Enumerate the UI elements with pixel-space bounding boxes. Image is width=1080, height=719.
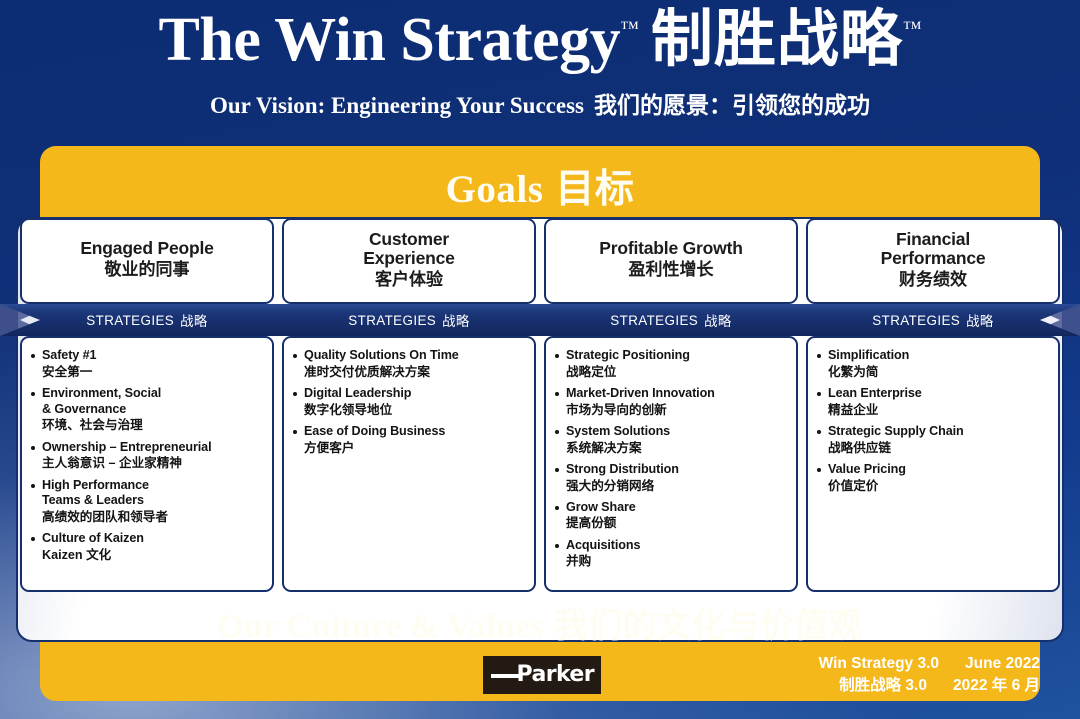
trademark-symbol: ™ <box>620 18 639 39</box>
parker-logo-text: Parker <box>517 662 594 688</box>
strategies-label-chinese: 战略 <box>180 310 208 330</box>
strategies-card-1: Safety #1安全第一 Environment, Social& Gover… <box>20 336 274 592</box>
strategy-english: Ease of Doing Business <box>304 424 526 440</box>
strategy-chinese: 化繁为简 <box>828 364 1050 380</box>
goal-column-customer-experience: CustomerExperience 客户体验 STRATEGIES战略 Qua… <box>282 218 536 592</box>
culture-chinese: 我们的文化与价值观 <box>554 608 863 645</box>
strategy-chinese: 精益企业 <box>828 402 1050 418</box>
strategy-list-3: Strategic Positioning战略定位 Market-Driven … <box>552 348 788 570</box>
title-chinese: 制胜战略 <box>651 6 903 74</box>
strategies-label-english: STRATEGIES <box>872 313 960 328</box>
goal-header-engaged-people[interactable]: Engaged People 敬业的同事 <box>20 218 274 304</box>
list-item: Quality Solutions On Time准时交付优质解决方案 <box>290 348 526 380</box>
trademark-symbol-chinese: ™ <box>903 18 922 39</box>
poster-footer: Parker Win Strategy 3.0June 2022 制胜战略 3.… <box>40 650 1040 700</box>
strategy-chinese: 高绩效的团队和领导者 <box>42 509 264 525</box>
strategy-english: Grow Share <box>566 500 788 516</box>
version-label-chinese: 制胜战略 3.0 <box>839 677 927 694</box>
version-info: Win Strategy 3.0June 2022 制胜战略 3.02022 年… <box>819 653 1040 697</box>
strategy-list-4: Simplification化繁为简 Lean Enterprise精益企业 S… <box>814 348 1050 494</box>
list-item: Digital Leadership数字化领导地位 <box>290 386 526 418</box>
goal-title-chinese: 敬业的同事 <box>105 260 190 280</box>
goal-title-english: CustomerExperience <box>363 230 454 270</box>
list-item: Strategic Positioning战略定位 <box>552 348 788 380</box>
win-strategy-poster: The Win Strategy™制胜战略™ Our Vision: Engin… <box>0 0 1080 719</box>
strategies-label-chinese: 战略 <box>704 310 732 330</box>
list-item: Value Pricing价值定价 <box>814 462 1050 494</box>
list-item: Strong Distribution强大的分销网络 <box>552 462 788 494</box>
strategies-label-chinese: 战略 <box>966 310 994 330</box>
version-row-chinese: 制胜战略 3.02022 年 6 月 <box>819 675 1040 697</box>
strategy-english: Digital Leadership <box>304 386 526 402</box>
strategies-label-3: STRATEGIES战略 <box>544 304 798 336</box>
list-item: Simplification化繁为简 <box>814 348 1050 380</box>
list-item: Culture of KaizenKaizen 文化 <box>28 531 264 563</box>
page-title: The Win Strategy™制胜战略™ <box>0 8 1080 73</box>
strategy-chinese: 价值定价 <box>828 478 1050 494</box>
strategy-chinese: 战略供应链 <box>828 440 1050 456</box>
goals-heading-english: Goals <box>446 168 544 211</box>
strategy-chinese: Kaizen 文化 <box>42 547 264 563</box>
list-item: Lean Enterprise精益企业 <box>814 386 1050 418</box>
strategies-card-3: Strategic Positioning战略定位 Market-Driven … <box>544 336 798 592</box>
strategies-label-english: STRATEGIES <box>86 313 174 328</box>
goals-heading: Goals目标 <box>0 158 1080 214</box>
goal-header-profitable-growth[interactable]: Profitable Growth 盈利性增长 <box>544 218 798 304</box>
goal-column-financial-performance: FinancialPerformance 财务绩效 STRATEGIES战略 S… <box>806 218 1060 592</box>
strategy-english: Culture of Kaizen <box>42 531 264 547</box>
goals-heading-chinese: 目标 <box>555 168 634 211</box>
strategy-list-1: Safety #1安全第一 Environment, Social& Gover… <box>28 348 264 563</box>
strategy-english: Environment, Social& Governance <box>42 386 264 417</box>
parker-dash-icon <box>491 674 519 678</box>
list-item: Grow Share提高份额 <box>552 500 788 532</box>
goal-title-english: FinancialPerformance <box>881 230 986 270</box>
title-english: The Win Strategy <box>159 6 621 74</box>
goal-header-customer-experience[interactable]: CustomerExperience 客户体验 <box>282 218 536 304</box>
goal-title-chinese: 财务绩效 <box>899 270 967 290</box>
list-item: Ease of Doing Business方便客户 <box>290 424 526 456</box>
vision-english: Our Vision: Engineering Your Success <box>210 93 584 118</box>
goal-columns: Engaged People 敬业的同事 STRATEGIES战略 Safety… <box>20 218 1060 592</box>
parker-wordmark: Parker <box>490 662 594 688</box>
strategy-english: Quality Solutions On Time <box>304 348 526 364</box>
strategy-english: Value Pricing <box>828 462 1050 478</box>
strategy-english: Strategic Supply Chain <box>828 424 1050 440</box>
list-item: Environment, Social& Governance环境、社会与治理 <box>28 386 264 434</box>
strategy-chinese: 准时交付优质解决方案 <box>304 364 526 380</box>
strategy-chinese: 系统解决方案 <box>566 440 788 456</box>
date-english: June 2022 <box>965 655 1040 672</box>
strategy-chinese: 数字化领导地位 <box>304 402 526 418</box>
goal-title-english: Engaged People <box>80 239 213 259</box>
strategy-chinese: 并购 <box>566 553 788 569</box>
goal-title-english: Profitable Growth <box>599 239 742 259</box>
vision-statement: Our Vision: Engineering Your Success我们的愿… <box>0 86 1080 120</box>
strategies-label-4: STRATEGIES战略 <box>806 304 1060 336</box>
goal-header-financial-performance[interactable]: FinancialPerformance 财务绩效 <box>806 218 1060 304</box>
strategy-english: High PerformanceTeams & Leaders <box>42 478 264 509</box>
goal-title-chinese: 盈利性增长 <box>629 260 714 280</box>
version-label-english: Win Strategy 3.0 <box>819 655 939 672</box>
strategy-chinese: 主人翁意识 – 企业家精神 <box>42 455 264 471</box>
strategy-english: Safety #1 <box>42 348 264 364</box>
strategies-card-2: Quality Solutions On Time准时交付优质解决方案 Digi… <box>282 336 536 592</box>
culture-english: Our Culture & Values <box>217 608 544 645</box>
strategy-english: Simplification <box>828 348 1050 364</box>
strategy-english: Strong Distribution <box>566 462 788 478</box>
strategies-label-english: STRATEGIES <box>348 313 436 328</box>
list-item: High PerformanceTeams & Leaders高绩效的团队和领导… <box>28 478 264 526</box>
goal-title-chinese: 客户体验 <box>375 270 443 290</box>
strategies-card-4: Simplification化繁为简 Lean Enterprise精益企业 S… <box>806 336 1060 592</box>
strategy-chinese: 提高份额 <box>566 515 788 531</box>
culture-values-heading: Our Culture & Values我们的文化与价值观 <box>0 598 1080 647</box>
strategy-chinese: 安全第一 <box>42 364 264 380</box>
strategy-chinese: 市场为导向的创新 <box>566 402 788 418</box>
poster-header: The Win Strategy™制胜战略™ Our Vision: Engin… <box>0 8 1080 120</box>
parker-logo: Parker <box>483 656 601 694</box>
list-item: Ownership – Entrepreneurial主人翁意识 – 企业家精神 <box>28 440 264 472</box>
list-item: System Solutions系统解决方案 <box>552 424 788 456</box>
list-item: Strategic Supply Chain战略供应链 <box>814 424 1050 456</box>
list-item: Acquisitions并购 <box>552 538 788 570</box>
strategy-english: System Solutions <box>566 424 788 440</box>
strategy-english: Ownership – Entrepreneurial <box>42 440 264 456</box>
list-item: Safety #1安全第一 <box>28 348 264 380</box>
strategy-chinese: 强大的分销网络 <box>566 478 788 494</box>
strategies-label-chinese: 战略 <box>442 310 470 330</box>
list-item: Market-Driven Innovation市场为导向的创新 <box>552 386 788 418</box>
strategy-english: Market-Driven Innovation <box>566 386 788 402</box>
strategy-english: Lean Enterprise <box>828 386 1050 402</box>
version-row-english: Win Strategy 3.0June 2022 <box>819 653 1040 675</box>
strategies-label-english: STRATEGIES <box>610 313 698 328</box>
strategy-chinese: 战略定位 <box>566 364 788 380</box>
vision-chinese: 我们的愿景：引领您的成功 <box>594 93 870 118</box>
strategy-list-2: Quality Solutions On Time准时交付优质解决方案 Digi… <box>290 348 526 456</box>
strategy-chinese: 环境、社会与治理 <box>42 417 264 433</box>
strategy-english: Acquisitions <box>566 538 788 554</box>
goal-column-engaged-people: Engaged People 敬业的同事 STRATEGIES战略 Safety… <box>20 218 274 592</box>
strategies-label-1: STRATEGIES战略 <box>20 304 274 336</box>
date-chinese: 2022 年 6 月 <box>953 677 1040 694</box>
strategy-english: Strategic Positioning <box>566 348 788 364</box>
strategies-label-2: STRATEGIES战略 <box>282 304 536 336</box>
strategy-chinese: 方便客户 <box>304 440 526 456</box>
goal-column-profitable-growth: Profitable Growth 盈利性增长 STRATEGIES战略 Str… <box>544 218 798 592</box>
